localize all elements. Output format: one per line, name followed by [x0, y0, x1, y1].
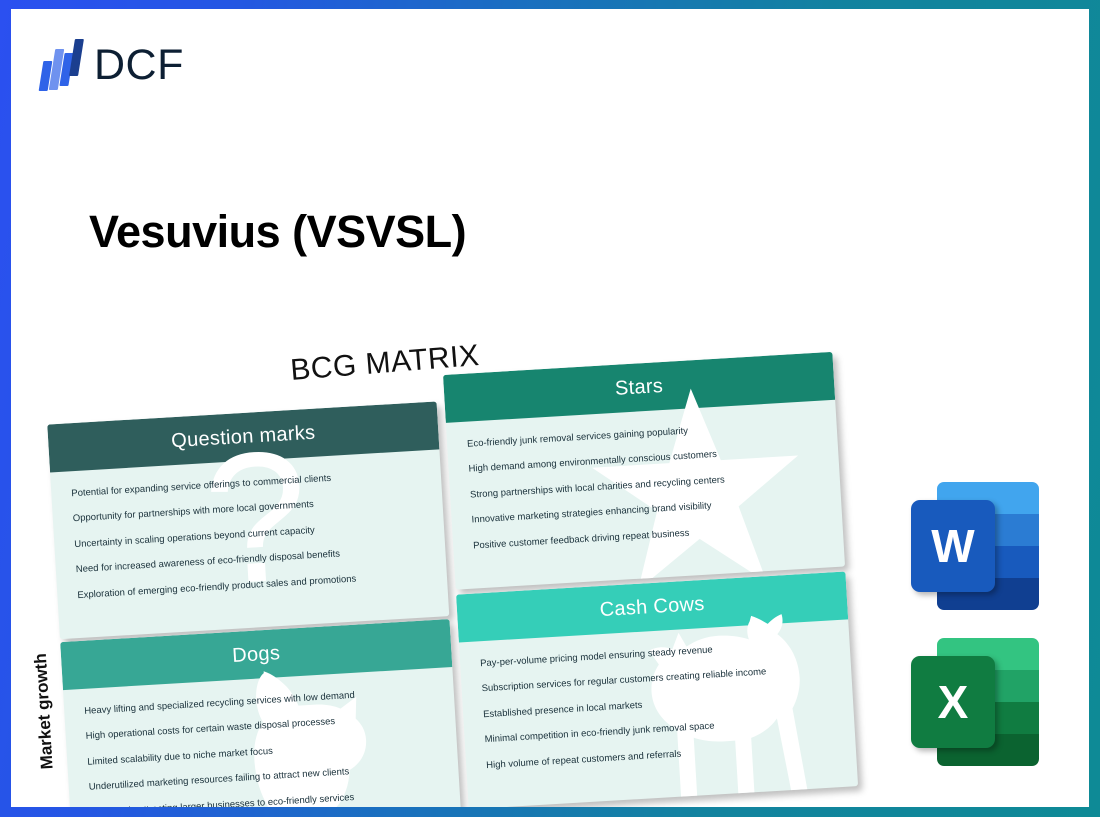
- list-item: High demand among environmentally consci…: [468, 444, 818, 476]
- page-title: Vesuvius (VSVSL): [89, 206, 466, 258]
- brand-logo[interactable]: DCF: [41, 39, 184, 92]
- list-item: Eco-friendly junk removal services gaini…: [467, 419, 817, 451]
- page-content: DCF Vesuvius (VSVSL) BCG MATRIX Market g…: [11, 9, 1089, 807]
- list-item: Uncertainty in scaling operations beyond…: [74, 519, 424, 551]
- list-item: Heavy lifting and specialized recycling …: [84, 686, 434, 718]
- quadrant-stars: Stars Eco-friendly junk removal services…: [443, 352, 845, 590]
- bcg-matrix: BCG MATRIX Market growth Question marks …: [21, 303, 909, 807]
- list-item: Need for increased awareness of eco-frie…: [76, 545, 426, 577]
- quadrant-body-dogs: Heavy lifting and specialized recycling …: [63, 667, 462, 807]
- list-item: Minimal competition in eco-friendly junk…: [484, 715, 834, 747]
- list-item: Pay-per-volume pricing model ensuring st…: [480, 639, 830, 671]
- brand-name: DCF: [94, 44, 184, 87]
- list-item: Subscription services for regular custom…: [481, 664, 831, 696]
- excel-letter-tile: X: [911, 656, 995, 748]
- list-item: Strong partnerships with local charities…: [470, 470, 820, 502]
- quadrant-body-question-marks: ? Potential for expanding service offeri…: [50, 449, 449, 639]
- dcf-bars-logo-icon: [41, 39, 81, 92]
- quadrant-body-stars: Eco-friendly junk removal services gaini…: [446, 400, 845, 590]
- quadrant-dogs: Dogs Heavy lifting and specialized recyc…: [60, 619, 462, 807]
- list-item: Established presence in local markets: [483, 689, 833, 721]
- list-item: Underutilized marketing resources failin…: [89, 762, 439, 794]
- microsoft-word-icon[interactable]: W: [911, 482, 1039, 610]
- list-item: Limited scalability due to niche market …: [87, 737, 437, 769]
- list-item: High operational costs for certain waste…: [86, 712, 436, 744]
- list-item: Opportunity for partnerships with more l…: [73, 494, 423, 526]
- list-item: Exploration of emerging eco-friendly pro…: [77, 570, 427, 602]
- quadrant-question-marks: Question marks ? Potential for expanding…: [47, 401, 449, 639]
- page-gradient-frame: DCF Vesuvius (VSVSL) BCG MATRIX Market g…: [0, 0, 1100, 817]
- quadrant-cash-cows: Cash Cows Pay-per-volume pricing model e…: [456, 571, 858, 807]
- list-item: Positive customer feedback driving repea…: [473, 520, 823, 552]
- list-item: Innovative marketing strategies enhancin…: [471, 495, 821, 527]
- word-letter-tile: W: [911, 500, 995, 592]
- list-item: Potential for expanding service offering…: [71, 469, 421, 501]
- microsoft-excel-icon[interactable]: X: [911, 638, 1039, 766]
- list-item: High volume of repeat customers and refe…: [486, 740, 836, 772]
- quadrant-body-cash-cows: Pay-per-volume pricing model ensuring st…: [459, 619, 858, 807]
